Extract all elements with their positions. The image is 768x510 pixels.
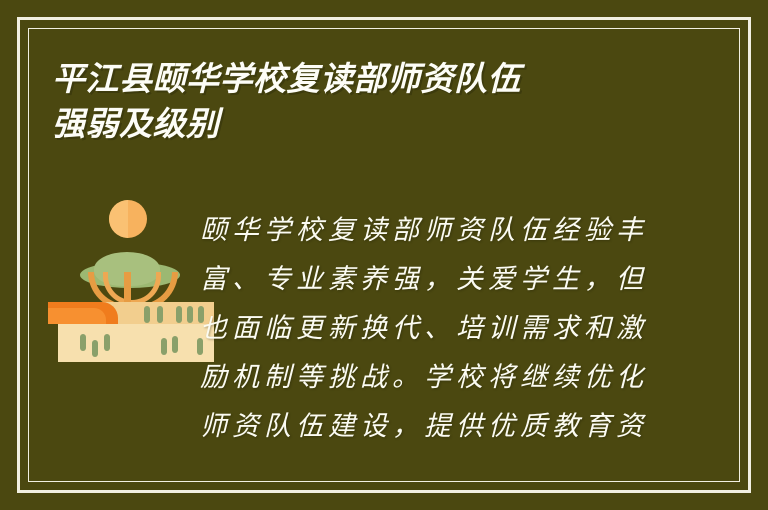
building-roof-highlight: [48, 308, 106, 324]
body-line-1: 颐华学校复读部师资队伍经验丰: [200, 206, 700, 255]
page-title: 平江县颐华学校复读部师资队伍 强弱及级别: [52, 56, 692, 146]
title-line-1: 平江县颐华学校复读部师资队伍: [52, 56, 692, 101]
body-line-2: 富、专业素养强，关爱学生，但: [200, 255, 700, 304]
body-line-3: 也面临更新换代、培训需求和激: [200, 304, 700, 353]
body-line-4: 励机制等挑战。学校将继续优化: [200, 353, 700, 402]
building-window: [187, 306, 193, 323]
building-window: [176, 306, 182, 323]
poster-canvas: 平江县颐华学校复读部师资队伍 强弱及级别 颐华学校复读部师资队伍经验丰 富、专业…: [0, 0, 768, 510]
sun-icon: [109, 200, 147, 238]
building-window: [80, 334, 86, 351]
school-building-tree-sun-illustration: [58, 196, 214, 362]
body-line-5: 师资队伍建设，提供优质教育资: [200, 402, 700, 451]
building-window: [144, 306, 150, 323]
building-window: [157, 306, 163, 323]
body-paragraph: 颐华学校复读部师资队伍经验丰 富、专业素养强，关爱学生，但 也面临更新换代、培训…: [200, 206, 700, 451]
building-window: [92, 340, 98, 357]
building-window: [161, 338, 167, 355]
title-line-2: 强弱及级别: [52, 101, 692, 146]
building-window: [104, 334, 110, 351]
building-window: [172, 336, 178, 353]
